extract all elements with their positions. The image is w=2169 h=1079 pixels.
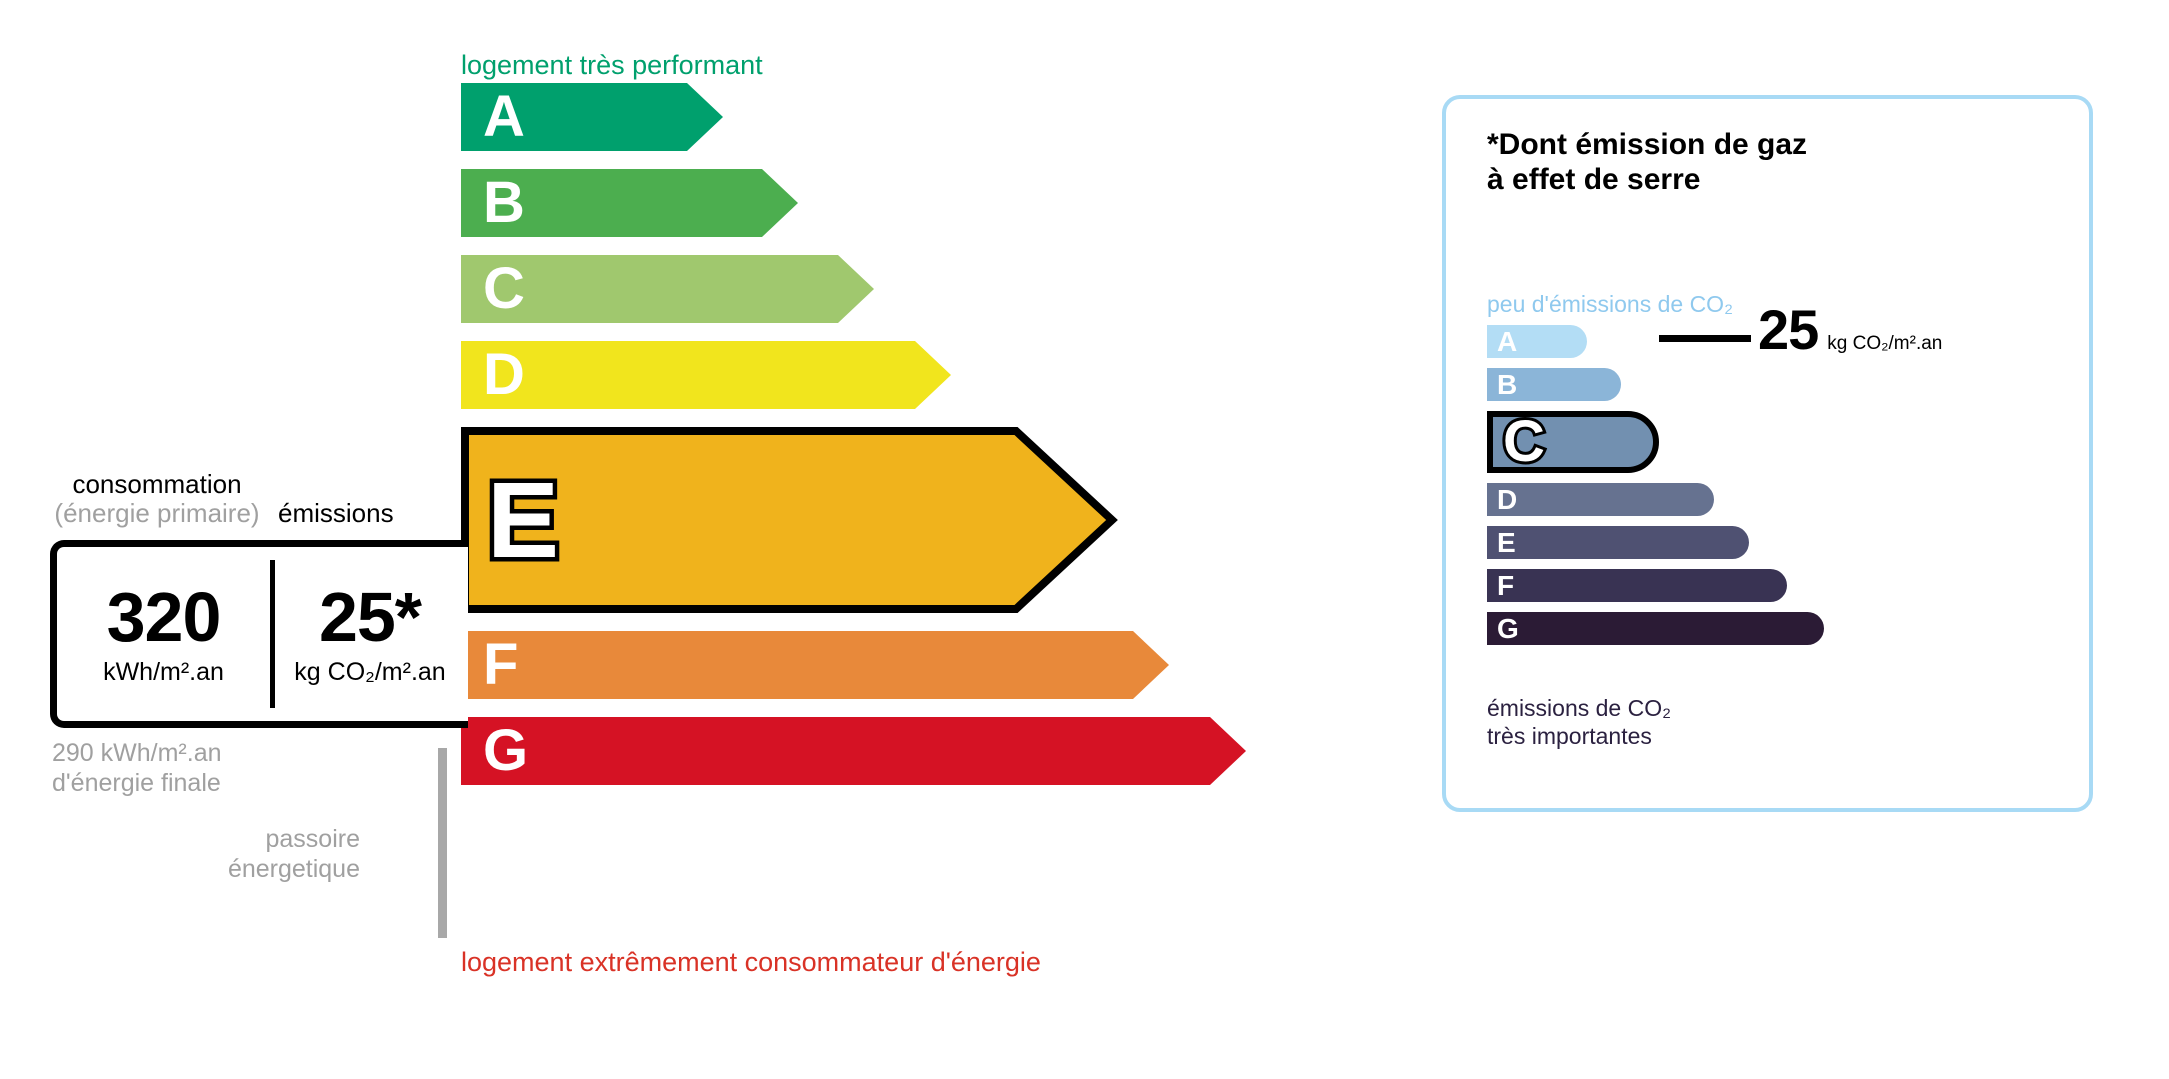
energy-grade-row-g: G	[461, 717, 1246, 785]
energy-grade-row-b: B	[461, 169, 798, 237]
energy-grade-letter-c: C	[483, 260, 525, 318]
passoire-note: passoire énergetique	[120, 824, 360, 884]
energy-grade-letter-d: D	[483, 346, 525, 404]
co2-bottom-caption-line2: très importantes	[1487, 723, 1671, 751]
co2-grade-row-f: F	[1487, 569, 1787, 602]
co2-value-group: 25 kg CO₂/m².an	[1758, 302, 1942, 358]
consumption-sublabel: (énergie primaire)	[52, 499, 262, 528]
energy-grade-arrow-e	[461, 427, 1116, 613]
emission-value-cell: 25* kg CO₂/m².an	[275, 582, 465, 687]
co2-grade-row-g: G	[1487, 612, 1824, 645]
emission-value: 25*	[275, 582, 465, 652]
energy-grade-letter-f: F	[483, 636, 518, 694]
final-energy-note-line1: 290 kWh/m².an	[52, 738, 222, 768]
energy-performance-diagram: logement très performant ABCDEFG logemen…	[0, 0, 1300, 1079]
rating-value-box: 320 kWh/m².an 25* kg CO₂/m².an	[50, 540, 468, 728]
co2-grade-letter-e: E	[1497, 529, 1516, 557]
passoire-note-line1: passoire	[120, 824, 360, 854]
energy-grade-row-e: E	[461, 427, 1116, 613]
co2-grade-row-c: C	[1487, 411, 1659, 473]
energy-top-caption: logement très performant	[461, 50, 763, 81]
energy-grade-arrow-f	[461, 631, 1169, 699]
consumption-value: 320	[57, 582, 270, 652]
co2-grade-letter-c: C	[1503, 413, 1545, 471]
energy-grade-row-c: C	[461, 255, 874, 323]
emission-unit: kg CO₂/m².an	[275, 658, 465, 687]
final-energy-note: 290 kWh/m².an d'énergie finale	[52, 738, 222, 798]
co2-leader-line	[1659, 335, 1751, 342]
co2-grade-row-e: E	[1487, 526, 1749, 559]
co2-value-unit: kg CO₂/m².an	[1827, 333, 1942, 355]
co2-panel-title: *Dont émission de gaz à effet de serre	[1487, 127, 1807, 197]
co2-bottom-caption-line1: émissions de CO₂	[1487, 695, 1671, 723]
co2-emission-panel: *Dont émission de gaz à effet de serre p…	[1442, 95, 2093, 812]
consumption-value-cell: 320 kWh/m².an	[57, 582, 270, 687]
energy-grade-letter-e: E	[487, 466, 559, 574]
energy-grade-row-d: D	[461, 341, 951, 409]
co2-grade-row-a: A	[1487, 325, 1587, 358]
energy-grade-row-f: F	[461, 631, 1169, 699]
emissions-label: émissions	[278, 498, 394, 529]
co2-grade-letter-g: G	[1497, 615, 1519, 643]
energy-grade-arrow-g	[461, 717, 1246, 785]
co2-grade-letter-a: A	[1497, 328, 1517, 356]
energy-grade-letter-b: B	[483, 174, 525, 232]
co2-bottom-caption: émissions de CO₂ très importantes	[1487, 695, 1671, 750]
co2-top-caption: peu d'émissions de CO₂	[1487, 291, 1733, 318]
consumption-unit: kWh/m².an	[57, 658, 270, 687]
energy-grade-letter-a: A	[483, 88, 525, 146]
energy-grade-row-a: A	[461, 83, 723, 151]
co2-grade-row-d: D	[1487, 483, 1714, 516]
energy-bottom-caption: logement extrêmement consommateur d'éner…	[461, 947, 1041, 978]
passoire-bracket	[438, 748, 447, 938]
co2-grade-row-b: B	[1487, 368, 1621, 401]
consumption-label: consommation	[52, 470, 262, 499]
co2-grade-letter-f: F	[1497, 572, 1514, 600]
co2-grade-letter-d: D	[1497, 486, 1517, 514]
passoire-note-line2: énergetique	[120, 854, 360, 884]
energy-grade-letter-g: G	[483, 722, 528, 780]
energy-grade-arrow-d	[461, 341, 951, 409]
co2-value: 25	[1758, 302, 1818, 358]
co2-grade-letter-b: B	[1497, 371, 1517, 399]
consumption-label-group: consommation (énergie primaire)	[52, 470, 262, 528]
co2-title-line2: à effet de serre	[1487, 162, 1807, 197]
co2-title-line1: *Dont émission de gaz	[1487, 127, 1807, 162]
final-energy-note-line2: d'énergie finale	[52, 768, 222, 798]
